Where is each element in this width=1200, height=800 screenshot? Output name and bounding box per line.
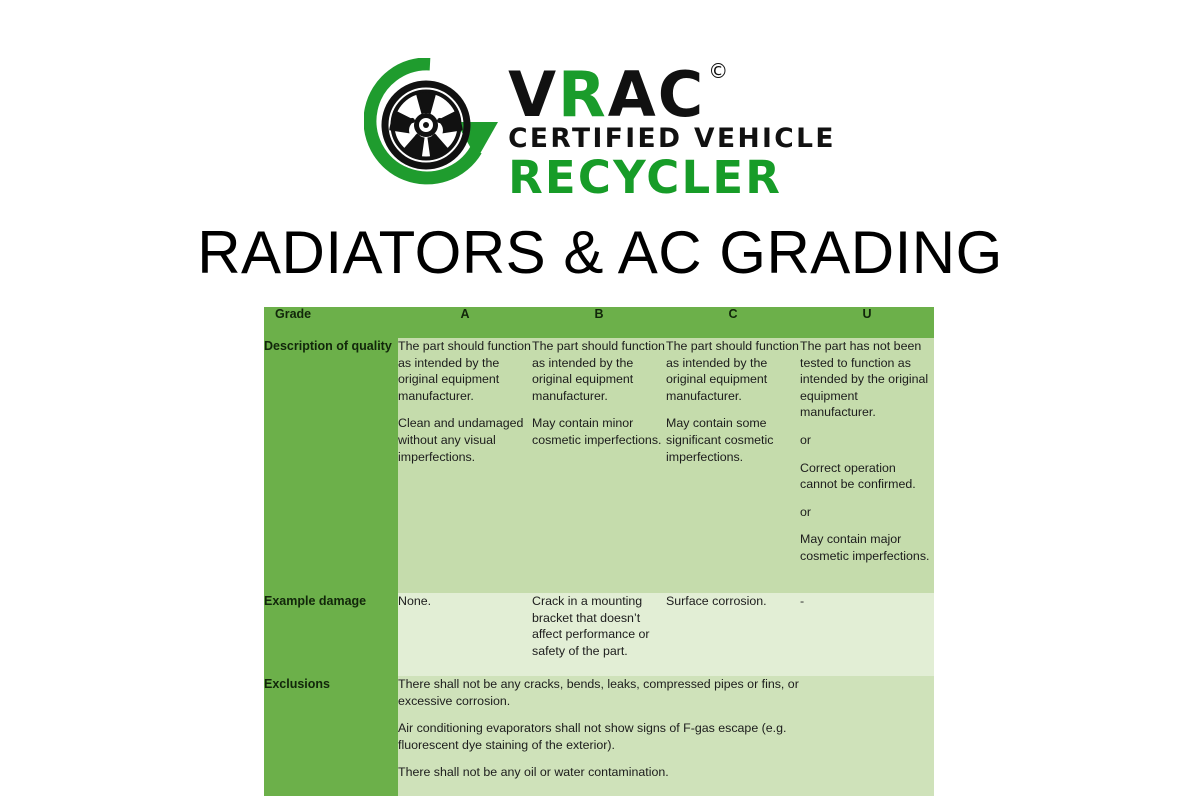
column-header-b: B: [532, 307, 666, 338]
cell-description-b: The part should function as intended by …: [532, 338, 666, 593]
grading-table-container: Grade A B C U Description of quality The…: [264, 307, 934, 796]
column-header-u: U: [800, 307, 934, 338]
row-label-example-damage: Example damage: [264, 593, 398, 676]
row-label-description-of-quality: Description of quality: [264, 338, 398, 593]
brand-letter-r: R: [558, 58, 608, 131]
cell-paragraph: or: [800, 432, 934, 449]
cell-paragraph: -: [800, 593, 934, 610]
cell-paragraph: The part should function as intended by …: [666, 338, 800, 404]
cell-paragraph: or: [800, 504, 934, 521]
grading-table: Grade A B C U Description of quality The…: [264, 307, 934, 796]
table-row: Description of quality The part should f…: [264, 338, 934, 593]
cell-paragraph: Crack in a mounting bracket that doesn’t…: [532, 593, 666, 659]
cell-exclusions-merged: There shall not be any cracks, bends, le…: [398, 676, 800, 796]
cell-paragraph: Surface corrosion.: [666, 593, 800, 610]
cell-paragraph: May contain major cosmetic imperfections…: [800, 531, 934, 564]
table-row: Exclusions There shall not be any cracks…: [264, 676, 934, 796]
cell-paragraph: There shall not be any cracks, bends, le…: [398, 676, 800, 709]
cell-exclusions-u: [800, 676, 934, 796]
cell-paragraph: There shall not be any oil or water cont…: [398, 764, 800, 781]
copyright-icon: ©: [708, 59, 728, 83]
brand-letter-v: V: [508, 58, 558, 131]
cell-description-u: The part has not been tested to function…: [800, 338, 934, 593]
brand-letters-ac: AC: [608, 58, 705, 131]
table-header-row: Grade A B C U: [264, 307, 934, 338]
cell-paragraph: None.: [398, 593, 532, 610]
cell-paragraph: May contain minor cosmetic imperfections…: [532, 415, 666, 448]
cell-description-a: The part should function as intended by …: [398, 338, 532, 593]
cell-example-c: Surface corrosion.: [666, 593, 800, 676]
logo-inner: VRAC© CERTIFIED VEHICLE RECYCLER: [364, 58, 836, 200]
cell-example-u: -: [800, 593, 934, 676]
cell-paragraph: The part should function as intended by …: [532, 338, 666, 404]
row-label-exclusions: Exclusions: [264, 676, 398, 796]
cell-paragraph: Correct operation cannot be confirmed.: [800, 460, 934, 493]
column-header-grade: Grade: [264, 307, 398, 338]
cell-example-a: None.: [398, 593, 532, 676]
logo-wordmark: VRAC© CERTIFIED VEHICLE RECYCLER: [508, 58, 836, 200]
cell-paragraph: The part has not been tested to function…: [800, 338, 934, 421]
cell-paragraph: Air conditioning evaporators shall not s…: [398, 720, 800, 753]
logo-tagline-line2: RECYCLER: [508, 155, 836, 200]
cell-paragraph: The part should function as intended by …: [398, 338, 532, 404]
cell-paragraph: May contain some significant cosmetic im…: [666, 415, 800, 465]
column-header-a: A: [398, 307, 532, 338]
brand-name: VRAC©: [508, 66, 836, 123]
cell-example-b: Crack in a mounting bracket that doesn’t…: [532, 593, 666, 676]
table-row: Example damage None. Crack in a mounting…: [264, 593, 934, 676]
logo-tagline-line1: CERTIFIED VEHICLE: [508, 126, 836, 153]
vrac-wheel-recycle-logo-icon: [364, 58, 504, 193]
column-header-c: C: [666, 307, 800, 338]
page-title: RADIATORS & AC GRADING: [0, 218, 1200, 287]
cell-description-c: The part should function as intended by …: [666, 338, 800, 593]
cell-paragraph: Clean and undamaged without any visual i…: [398, 415, 532, 465]
vrac-logo: VRAC© CERTIFIED VEHICLE RECYCLER: [0, 58, 1200, 203]
grading-sheet-page: VRAC© CERTIFIED VEHICLE RECYCLER RADIATO…: [0, 0, 1200, 800]
